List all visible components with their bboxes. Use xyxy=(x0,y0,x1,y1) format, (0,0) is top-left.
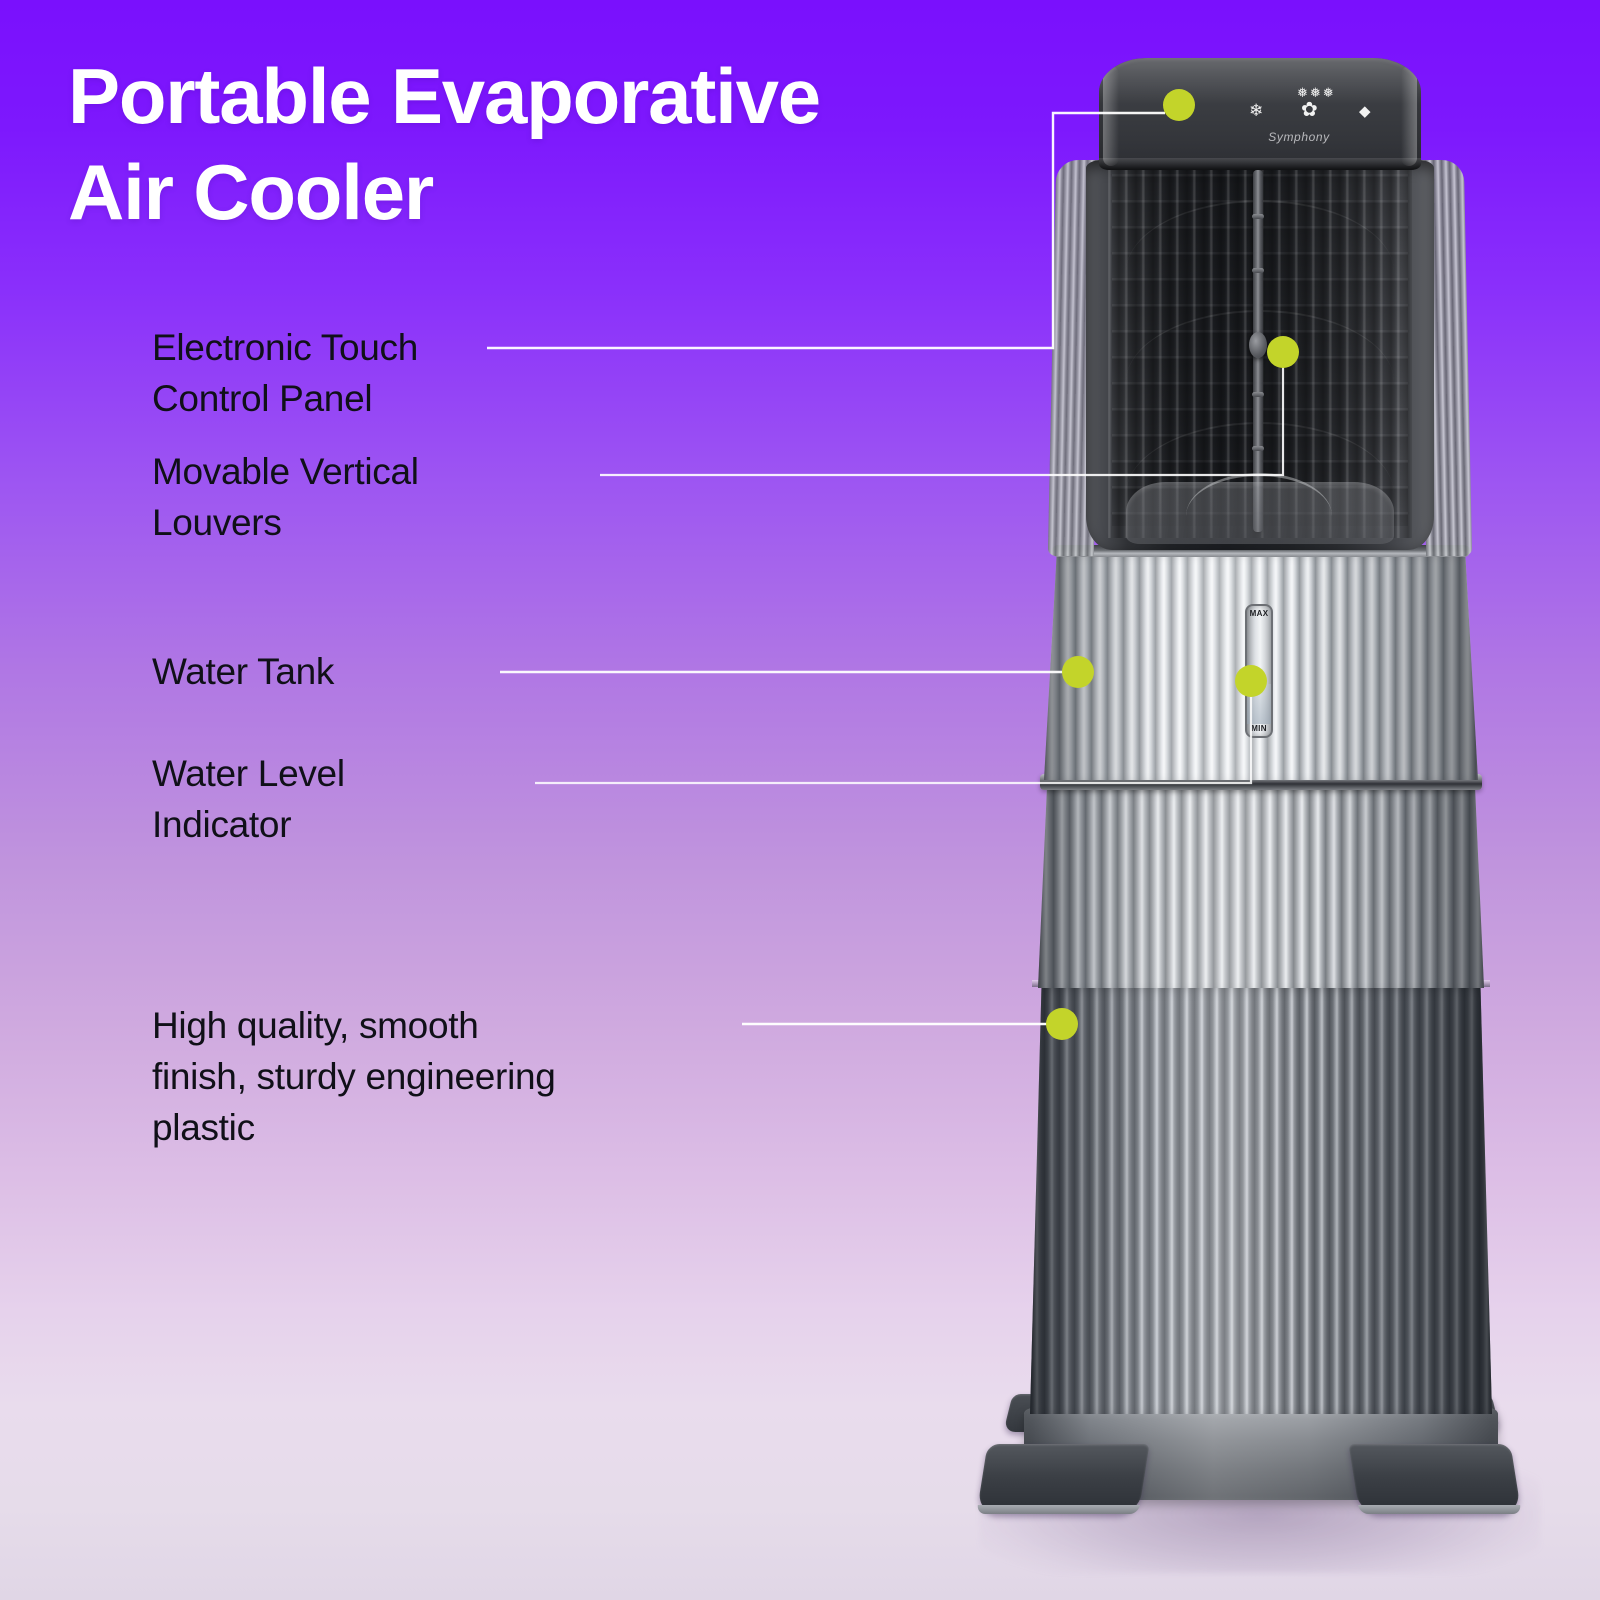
infographic-canvas: Portable Evaporative Air Cooler xyxy=(0,0,1600,1600)
callout-dot-engineering-plastic[interactable] xyxy=(1046,1008,1078,1040)
callout-label-water-level-indicator: Water Level Indicator xyxy=(152,748,572,850)
leader-line-water-level-indicator xyxy=(535,696,1251,783)
callout-label-water-tank: Water Tank xyxy=(152,646,572,697)
leader-line-control-panel xyxy=(487,113,1165,348)
callout-dot-control-panel[interactable] xyxy=(1163,89,1195,121)
callout-dot-vertical-louvers[interactable] xyxy=(1267,336,1299,368)
callout-label-vertical-louvers: Movable Vertical Louvers xyxy=(152,446,572,548)
callout-label-control-panel: Electronic Touch Control Panel xyxy=(152,322,572,424)
callout-label-engineering-plastic: High quality, smooth finish, sturdy engi… xyxy=(152,1000,712,1153)
leader-line-vertical-louvers xyxy=(600,366,1283,475)
callout-dot-water-level-indicator[interactable] xyxy=(1235,665,1267,697)
callout-dot-water-tank[interactable] xyxy=(1062,656,1094,688)
